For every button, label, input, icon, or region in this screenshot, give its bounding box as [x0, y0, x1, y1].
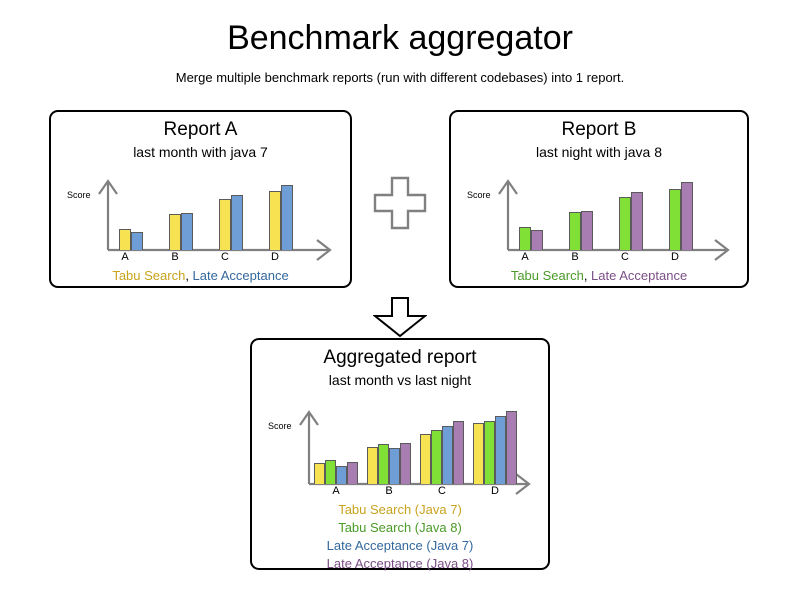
bar-group-a [314, 460, 358, 484]
bar-group-d [269, 185, 293, 250]
down-arrow-icon [373, 296, 427, 338]
page-title: Benchmark aggregator [0, 18, 800, 58]
report-b-card: Report B last night with java 8 Score [449, 110, 749, 288]
bar-group-d [669, 182, 693, 250]
bar-tabu-java7 [269, 191, 281, 250]
legend-item-tabu-java8: Tabu Search (Java 8) [252, 519, 548, 537]
legend-separator: , [185, 268, 192, 283]
report-a-bars [51, 168, 350, 263]
category-label-a: A [324, 485, 348, 498]
category-label-c: C [213, 251, 237, 264]
report-b-title: Report B [451, 118, 747, 142]
aggregated-bars [252, 396, 548, 496]
report-b-legend: Tabu Search, Late Acceptance [451, 267, 747, 284]
plus-icon [371, 174, 429, 232]
legend-item-late-acceptance: Late Acceptance [193, 268, 289, 283]
bar-late-java7 [281, 185, 293, 250]
bar-tabu-java8 [619, 197, 631, 250]
bar-group-b [569, 211, 593, 250]
legend-item-late-acceptance: Late Acceptance [591, 268, 687, 283]
legend-item-tabu-search: Tabu Search [511, 268, 584, 283]
bar-group-d [473, 411, 517, 484]
bar-tabu-java7 [473, 423, 484, 484]
bar-late-java7 [495, 416, 506, 484]
bar-tabu-java8 [519, 227, 531, 250]
category-label-d: D [663, 251, 687, 264]
report-a-subtitle: last month with java 7 [51, 143, 350, 162]
category-label-b: B [163, 251, 187, 264]
report-b-subtitle: last night with java 8 [451, 143, 747, 162]
bar-group-b [169, 213, 193, 250]
bar-tabu-java7 [314, 463, 325, 484]
legend-separator: , [584, 268, 591, 283]
bar-group-c [619, 192, 643, 250]
category-label-c: C [613, 251, 637, 264]
category-label-b: B [563, 251, 587, 264]
bar-tabu-java8 [669, 189, 681, 250]
page-subtitle: Merge multiple benchmark reports (run wi… [0, 69, 800, 86]
bar-late-java8 [631, 192, 643, 250]
aggregated-report-card: Aggregated report last month vs last nig… [250, 338, 550, 570]
bar-late-java8 [506, 411, 517, 484]
bar-tabu-java8 [569, 212, 581, 250]
legend-item-late-java8: Late Acceptance (Java 8) [252, 555, 548, 573]
report-a-chart: Score A B C D [51, 168, 350, 263]
bar-late-java8 [347, 462, 358, 484]
aggregated-title: Aggregated report [252, 346, 548, 370]
bar-late-java7 [389, 448, 400, 484]
bar-late-java8 [400, 443, 411, 484]
legend-item-tabu-search: Tabu Search [112, 268, 185, 283]
bar-tabu-java7 [367, 447, 378, 484]
bar-tabu-java7 [420, 434, 431, 484]
bar-late-java8 [581, 211, 593, 250]
bar-tabu-java8 [378, 444, 389, 484]
bar-tabu-java8 [484, 421, 495, 484]
bar-tabu-java7 [169, 214, 181, 250]
bar-tabu-java8 [431, 430, 442, 484]
bar-group-c [219, 195, 243, 250]
bar-late-java7 [231, 195, 243, 250]
report-b-chart: Score A B C D [451, 168, 750, 263]
category-label-d: D [483, 485, 507, 498]
category-label-d: D [263, 251, 287, 264]
bar-group-b [367, 443, 411, 484]
aggregated-legend: Tabu Search (Java 7) Tabu Search (Java 8… [252, 501, 548, 573]
aggregated-subtitle: last month vs last night [252, 371, 548, 390]
bar-late-java7 [442, 426, 453, 484]
category-label-b: B [377, 485, 401, 498]
legend-item-tabu-java7: Tabu Search (Java 7) [252, 501, 548, 519]
bar-late-java8 [531, 230, 543, 250]
bar-late-java7 [336, 466, 347, 484]
report-a-title: Report A [51, 118, 350, 142]
bar-tabu-java7 [219, 199, 231, 250]
bar-group-c [420, 421, 464, 484]
aggregated-chart: Score [252, 396, 548, 496]
bar-group-a [119, 229, 143, 250]
bar-late-java7 [181, 213, 193, 250]
bar-group-a [519, 227, 543, 250]
category-label-a: A [513, 251, 537, 264]
bar-late-java7 [131, 232, 143, 250]
bar-tabu-java7 [119, 229, 131, 250]
bar-late-java8 [453, 421, 464, 484]
report-a-card: Report A last month with java 7 Score [49, 110, 352, 288]
legend-item-late-java7: Late Acceptance (Java 7) [252, 537, 548, 555]
category-label-c: C [430, 485, 454, 498]
bar-tabu-java8 [325, 460, 336, 484]
category-label-a: A [113, 251, 137, 264]
report-b-bars [451, 168, 750, 263]
bar-late-java8 [681, 182, 693, 250]
report-a-legend: Tabu Search, Late Acceptance [51, 267, 350, 284]
